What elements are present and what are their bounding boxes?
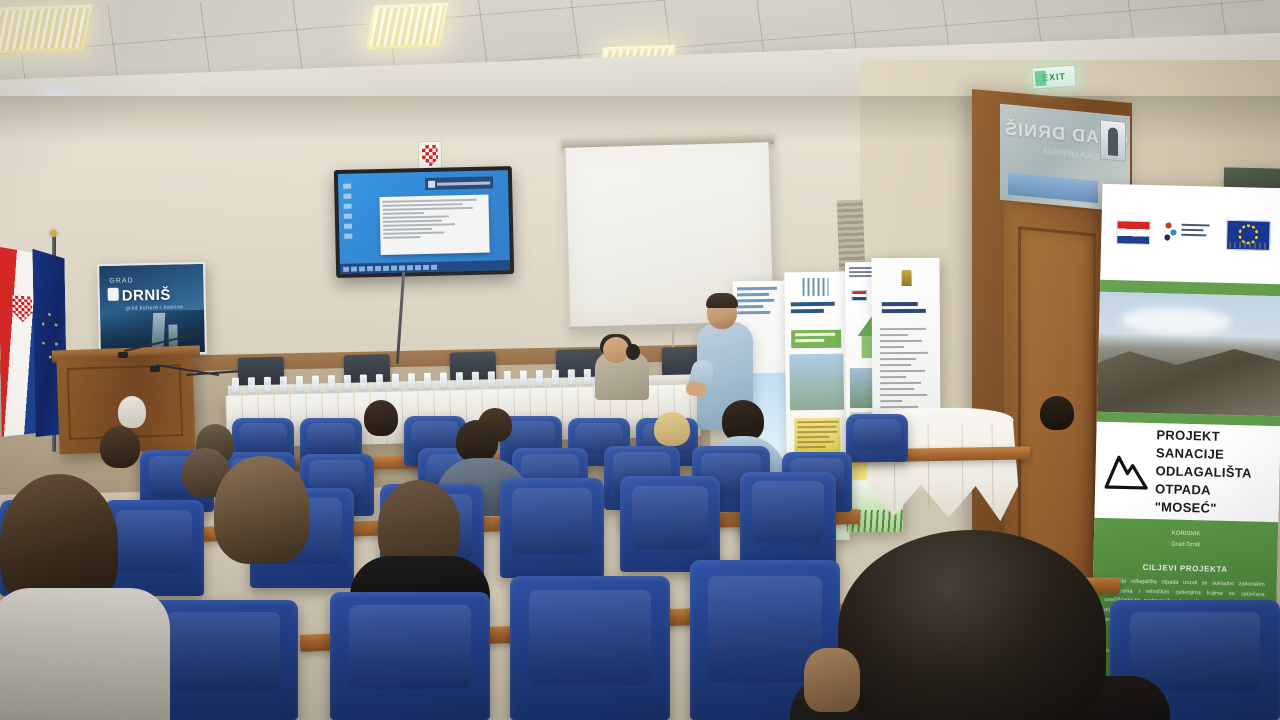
ceiling-panel-light xyxy=(0,4,93,53)
audience-seat[interactable] xyxy=(148,600,298,720)
audience-head xyxy=(1040,396,1074,430)
eu-funds-logo-icon xyxy=(1164,219,1213,248)
audience-seat[interactable] xyxy=(846,414,908,462)
cloud-graphic xyxy=(1121,307,1232,336)
water-glass xyxy=(280,376,287,391)
audience-head xyxy=(654,412,690,446)
audience-shoulders xyxy=(0,588,170,720)
conference-hall-photo: GRAD DRNIŠ GRADSKA UPRAVA EXIT GRAD DRNI… xyxy=(0,0,1280,720)
audience-seat[interactable] xyxy=(104,500,204,596)
tv-screen xyxy=(338,170,510,274)
water-glass xyxy=(536,370,543,385)
microphone-base xyxy=(118,352,128,358)
banner-landscape-photo xyxy=(1097,292,1280,416)
water-glass xyxy=(472,372,479,387)
water-glass xyxy=(568,369,575,384)
transom-blue-graphic xyxy=(1008,173,1098,204)
transom-picture xyxy=(1100,119,1126,162)
water-glass xyxy=(520,371,527,386)
banner-title-line-3: "MOSEĆ" xyxy=(1154,499,1216,516)
rollup-photo xyxy=(789,354,844,411)
audience-head xyxy=(364,400,398,436)
water-glass xyxy=(392,374,399,389)
audience-head xyxy=(456,420,498,462)
poster-crest-icon xyxy=(108,288,119,301)
mountain-logo-icon xyxy=(1103,450,1150,491)
poster-kicker: GRAD xyxy=(109,277,133,285)
rollup-heading xyxy=(791,302,841,317)
water-glass xyxy=(408,373,415,388)
window-title-text xyxy=(437,181,490,185)
water-glass xyxy=(552,370,559,385)
rollup-logo xyxy=(802,278,828,296)
audience-head xyxy=(100,426,140,468)
water-glass xyxy=(504,371,511,386)
poster-subtitle: grad kulture i baštine xyxy=(126,304,184,311)
audience-seat[interactable] xyxy=(500,478,604,578)
poster-tower-2 xyxy=(168,324,178,348)
banner-logo-strip xyxy=(1100,184,1280,284)
poster-title: DRNIŠ xyxy=(122,287,172,305)
croatian-flag-icon xyxy=(1116,220,1151,245)
presenter-hair xyxy=(706,293,738,308)
banner-title-line-1: PROJEKT SANACIJE xyxy=(1156,427,1224,462)
desktop-icons[interactable] xyxy=(343,183,365,238)
wall-mounted-television[interactable] xyxy=(334,166,514,278)
water-glass xyxy=(344,375,351,390)
emergency-exit-sign: EXIT xyxy=(1031,64,1076,89)
foreground-person-head xyxy=(838,530,1106,720)
flag-coat-of-arms-icon xyxy=(12,295,32,322)
rollup-body-text xyxy=(880,328,932,412)
audience-seat[interactable] xyxy=(510,576,670,720)
audience-head xyxy=(214,456,310,564)
wall-vent xyxy=(837,200,865,271)
moderator-hair-bun xyxy=(626,344,640,360)
water-glass xyxy=(584,369,591,384)
rollup-heading xyxy=(882,302,930,316)
eu-flag-icon xyxy=(1226,220,1271,251)
water-glass xyxy=(296,376,303,391)
ceiling-panel-light xyxy=(365,3,448,50)
exit-sign-label: EXIT xyxy=(1042,71,1067,83)
water-glass xyxy=(424,373,431,388)
window-titlebar xyxy=(425,176,493,190)
flagpole-finial-icon xyxy=(50,230,57,237)
audience-seat[interactable] xyxy=(620,476,720,572)
taskbar[interactable] xyxy=(340,260,510,274)
banner-beneficiary-name: Grad Drniš xyxy=(1106,539,1266,552)
audience-seat[interactable] xyxy=(740,472,836,566)
water-glass xyxy=(456,372,463,387)
banner-section-heading: CILJEVI PROJEKTA xyxy=(1105,562,1265,575)
crest-icon xyxy=(902,270,912,286)
rollup-green-strip xyxy=(791,330,841,349)
croatian-flag-icon xyxy=(851,290,867,301)
banner-title-line-2: ODLAGALIŠTA OTPADA xyxy=(1155,463,1252,497)
app-icon xyxy=(428,180,435,187)
rollup-heading xyxy=(737,287,782,318)
water-glass xyxy=(312,376,319,391)
audience-head xyxy=(118,396,146,428)
water-glass xyxy=(328,375,335,390)
water-glass xyxy=(440,372,447,387)
audience-seat[interactable] xyxy=(330,592,490,720)
document-window xyxy=(379,195,489,255)
microphone-base xyxy=(150,366,160,372)
water-glass xyxy=(360,374,367,389)
water-glass xyxy=(488,371,495,386)
water-glass xyxy=(232,378,239,393)
banner-title-block: PROJEKT SANACIJE ODLAGALIŠTA OTPADA "MOS… xyxy=(1094,422,1280,522)
water-glass xyxy=(248,377,255,392)
foreground-person-hand xyxy=(804,648,860,712)
water-glass xyxy=(376,374,383,389)
water-glass xyxy=(264,377,271,392)
poster-grad-drnis: GRAD DRNIŠ grad kulture i baštine xyxy=(97,262,207,356)
